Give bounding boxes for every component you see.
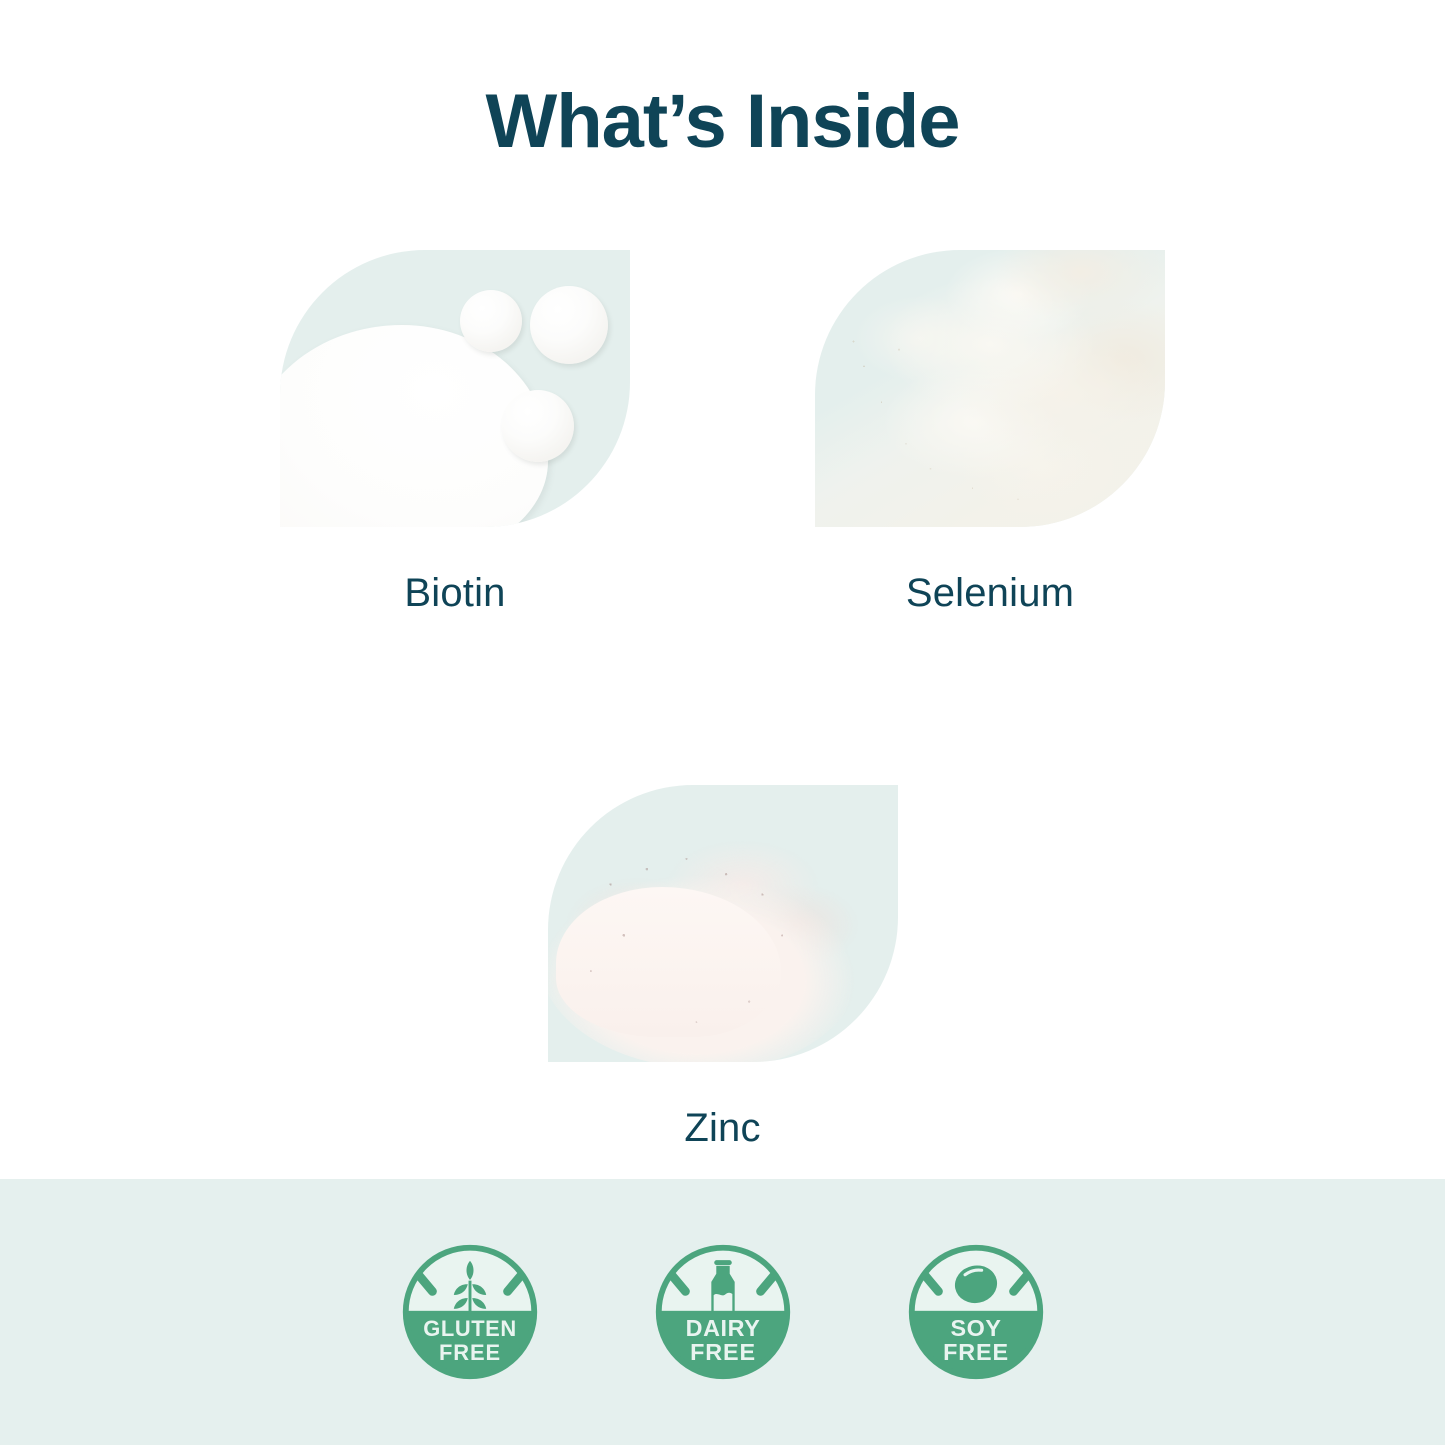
zinc-powder-texture: [548, 813, 868, 1062]
whats-inside-panel: What’s Inside Biotin Selenium: [0, 0, 1445, 1445]
pill-icon: [460, 290, 522, 352]
badge-soy-free-line1: SOY: [950, 1315, 1001, 1341]
selenium-powder-texture: [815, 250, 1165, 527]
badge-gluten-free-line2: FREE: [439, 1340, 501, 1365]
badge-soy-free: SOY FREE: [903, 1239, 1049, 1385]
zinc-tile-image: [548, 785, 898, 1062]
badge-dairy-free: DAIRY FREE: [650, 1239, 796, 1385]
badge-dairy-free-line1: DAIRY: [685, 1315, 760, 1341]
selenium-tile-image: [815, 250, 1165, 527]
ingredient-card-selenium[interactable]: Selenium: [815, 250, 1165, 613]
ingredient-row-1: Biotin Selenium: [0, 250, 1445, 613]
pill-icon: [502, 390, 574, 462]
certification-band: GLUTEN FREE DAIRY FREE: [0, 1179, 1445, 1445]
ingredient-card-zinc[interactable]: Zinc: [548, 785, 898, 1148]
badge-dairy-free-line2: FREE: [690, 1339, 756, 1365]
ingredient-row-2: Zinc: [0, 785, 1445, 1148]
ingredient-card-biotin[interactable]: Biotin: [280, 250, 630, 613]
ingredient-label-zinc: Zinc: [684, 1108, 760, 1148]
page-title: What’s Inside: [0, 84, 1445, 160]
ingredient-label-selenium: Selenium: [906, 573, 1074, 613]
ingredient-grid: Biotin Selenium Zinc: [0, 250, 1445, 1148]
badge-gluten-free: GLUTEN FREE: [397, 1239, 543, 1385]
badge-gluten-free-line1: GLUTEN: [423, 1316, 517, 1341]
pill-icon: [530, 286, 608, 364]
ingredient-label-biotin: Biotin: [404, 573, 505, 613]
biotin-tile-image: [280, 250, 630, 527]
badge-soy-free-line2: FREE: [943, 1339, 1009, 1365]
